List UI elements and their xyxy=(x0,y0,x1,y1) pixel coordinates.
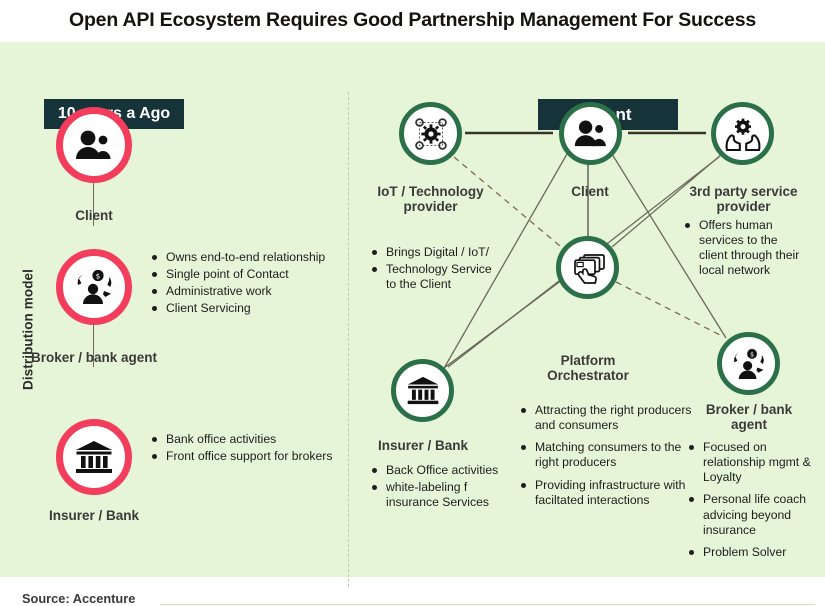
list-item: white-labeling f insurance Services xyxy=(372,480,502,510)
list-item: Brings Digital / IoT/ xyxy=(372,245,497,260)
panel-divider xyxy=(348,92,349,587)
list-item: Client Servicing xyxy=(152,301,352,316)
list-item: Matching consumers to the right producer… xyxy=(521,440,693,470)
svg-text:$: $ xyxy=(750,351,754,358)
bank-icon xyxy=(74,440,114,474)
caption-legacy-broker-bank-agent: Broker / bank agent xyxy=(24,350,164,365)
caption-iot-technology-provider: IoT / Technology provider xyxy=(368,184,493,214)
caption-platform-orchestrator: Platform Orchestrator xyxy=(518,353,658,383)
list-item: Bank office activities xyxy=(152,432,362,447)
axis-label-distribution-model: Distribution model xyxy=(21,250,36,410)
broker-money-icon: $ xyxy=(730,348,767,380)
node-ecosystem-insurer-bank[interactable] xyxy=(391,359,454,422)
node-legacy-insurer-bank[interactable] xyxy=(56,419,132,495)
caption-legacy-insurer-bank: Insurer / Bank xyxy=(24,508,164,523)
caption-ecosystem-insurer-bank: Insurer / Bank xyxy=(358,438,488,453)
source-label: Source: Accenture xyxy=(22,591,135,606)
caption-legacy-client: Client xyxy=(34,208,154,223)
list-item: Owns end-to-end relationship xyxy=(152,250,352,265)
bullets-ecosystem-insurer-bank: Back Office activities white-labeling f … xyxy=(372,463,502,512)
source-rule xyxy=(160,604,815,605)
hands-gear-icon xyxy=(724,117,762,151)
list-item: Offers human services to the client thro… xyxy=(685,218,807,279)
node-ecosystem-client[interactable] xyxy=(559,102,622,165)
bullets-legacy-insurer: Bank office activities Front office supp… xyxy=(152,432,362,466)
iot-gear-network-icon xyxy=(413,116,449,152)
node-iot-technology-provider[interactable] xyxy=(399,102,462,165)
bullets-third-party-service-provider: Offers human services to the client thro… xyxy=(685,218,807,281)
people-icon xyxy=(74,129,114,161)
bullets-legacy-broker: Owns end-to-end relationship Single poin… xyxy=(152,250,352,319)
node-legacy-broker-bank-agent[interactable]: $ xyxy=(56,249,132,325)
list-item: Providing infrastructure with faciltated… xyxy=(521,478,693,508)
node-legacy-client[interactable] xyxy=(56,107,132,183)
node-third-party-service-provider[interactable] xyxy=(711,102,774,165)
node-platform-orchestrator[interactable] xyxy=(556,236,619,299)
caption-third-party-service-provider: 3rd party service provider xyxy=(666,184,821,214)
people-icon xyxy=(573,119,609,148)
infographic-root: Open API Ecosystem Requires Good Partner… xyxy=(0,0,825,577)
node-ecosystem-broker-bank-agent[interactable]: $ xyxy=(717,332,780,395)
bullets-iot-technology-provider: Brings Digital / IoT/ Technology Service… xyxy=(372,245,497,294)
svg-text:$: $ xyxy=(96,272,100,280)
bank-icon xyxy=(406,376,440,405)
list-item: Personal life coach advicing beyond insu… xyxy=(689,492,819,537)
cards-hand-icon xyxy=(569,252,607,284)
list-item: Single point of Contact xyxy=(152,267,352,282)
list-item: Attracting the right producers and consu… xyxy=(521,403,693,433)
caption-ecosystem-broker-bank-agent: Broker / bank agent xyxy=(694,402,804,432)
diagram-canvas: 10 years a Ago Client Distribution model xyxy=(0,42,825,577)
bullets-ecosystem-broker-bank-agent: Focused on relationship mgmt & Loyalty P… xyxy=(689,440,819,567)
broker-money-icon: $ xyxy=(73,269,115,305)
caption-ecosystem-client: Client xyxy=(540,184,640,199)
bullets-platform-orchestrator: Attracting the right producers and consu… xyxy=(521,403,693,515)
list-item: Problem Solver xyxy=(689,545,819,560)
list-item: Back Office activities xyxy=(372,463,502,478)
list-item: Administrative work xyxy=(152,284,352,299)
page-title: Open API Ecosystem Requires Good Partner… xyxy=(0,0,825,40)
list-item: Focused on relationship mgmt & Loyalty xyxy=(689,440,819,485)
list-item: Front office support for brokers xyxy=(152,449,362,464)
list-item: Technology Service to the Client xyxy=(372,262,497,292)
